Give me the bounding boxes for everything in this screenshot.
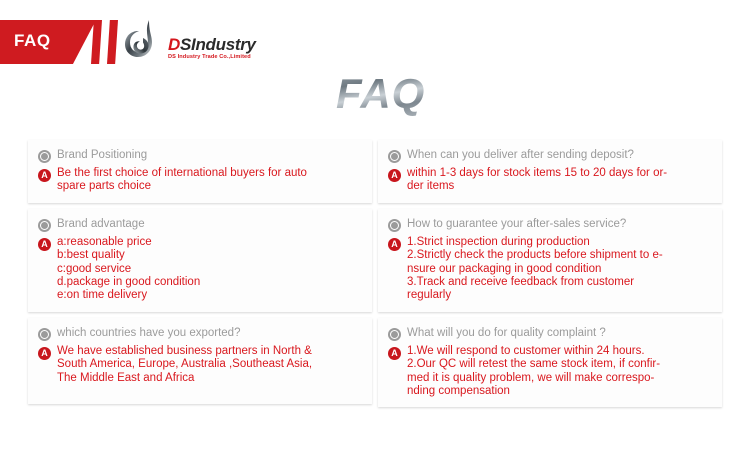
question-badge-icon bbox=[388, 219, 401, 232]
answer-badge-icon: A bbox=[388, 347, 401, 360]
logo-name-initial: D bbox=[168, 35, 180, 54]
faq-question-row: When can you deliver after sending depos… bbox=[388, 148, 712, 163]
faq-answer-row: ABe the first choice of international bu… bbox=[38, 167, 362, 194]
logo-name-rest: SIndustry bbox=[180, 35, 256, 54]
faq-grid: Brand PositioningABe the first choice of… bbox=[28, 140, 722, 407]
faq-answer-text: 1.Strict inspection during production 2.… bbox=[407, 236, 663, 303]
faq-question-row: What will you do for quality complaint ? bbox=[388, 326, 712, 341]
question-badge-icon bbox=[38, 219, 51, 232]
faq-answer-row: AWe have established business partners i… bbox=[38, 345, 362, 385]
faq-answer-row: A1.Strict inspection during production 2… bbox=[388, 236, 712, 303]
banner-label: FAQ bbox=[14, 31, 51, 51]
answer-badge-icon: A bbox=[38, 347, 51, 360]
faq-question-text: How to guarantee your after-sales servic… bbox=[407, 217, 626, 231]
faq-answer-row: Aa:reasonable price b:best quality c:goo… bbox=[38, 236, 362, 303]
faq-answer-text: within 1-3 days for stock items 15 to 20… bbox=[407, 167, 667, 194]
faq-card: How to guarantee your after-sales servic… bbox=[378, 209, 722, 312]
banner-stripe-2 bbox=[107, 20, 118, 64]
faq-question-text: Brand advantage bbox=[57, 217, 145, 231]
faq-card: Brand PositioningABe the first choice of… bbox=[28, 140, 372, 203]
logo-text: DSIndustry DS Industry Trade Co.,Limited bbox=[168, 36, 256, 60]
ds-swirl-logo-icon bbox=[119, 18, 167, 66]
faq-question-text: When can you deliver after sending depos… bbox=[407, 148, 634, 162]
question-badge-icon bbox=[38, 328, 51, 341]
faq-card: Brand advantageAa:reasonable price b:bes… bbox=[28, 209, 372, 312]
answer-badge-icon: A bbox=[388, 238, 401, 251]
faq-card: which countries have you exported?AWe ha… bbox=[28, 318, 372, 404]
faq-card: When can you deliver after sending depos… bbox=[378, 140, 722, 203]
faq-question-row: How to guarantee your after-sales servic… bbox=[388, 217, 712, 232]
page-header: FAQ DSIndu bbox=[0, 0, 750, 132]
question-badge-icon bbox=[38, 150, 51, 163]
question-badge-icon bbox=[388, 150, 401, 163]
question-badge-icon bbox=[388, 328, 401, 341]
faq-card: What will you do for quality complaint ?… bbox=[378, 318, 722, 408]
faq-question-text: Brand Positioning bbox=[57, 148, 147, 162]
faq-question-row: Brand advantage bbox=[38, 217, 362, 232]
faq-answer-text: Be the first choice of international buy… bbox=[57, 167, 307, 194]
faq-watermark-title: FAQ bbox=[336, 70, 425, 118]
faq-question-text: which countries have you exported? bbox=[57, 326, 240, 340]
faq-question-text: What will you do for quality complaint ? bbox=[407, 326, 606, 340]
banner-stripe-1 bbox=[91, 20, 102, 64]
faq-answer-row: Awithin 1-3 days for stock items 15 to 2… bbox=[388, 167, 712, 194]
faq-question-row: which countries have you exported? bbox=[38, 326, 362, 341]
answer-badge-icon: A bbox=[38, 238, 51, 251]
faq-answer-text: We have established business partners in… bbox=[57, 345, 312, 385]
answer-badge-icon: A bbox=[38, 169, 51, 182]
answer-badge-icon: A bbox=[388, 169, 401, 182]
logo-name: DSIndustry bbox=[168, 36, 256, 53]
faq-question-row: Brand Positioning bbox=[38, 148, 362, 163]
faq-answer-text: a:reasonable price b:best quality c:good… bbox=[57, 236, 200, 303]
faq-banner: FAQ bbox=[0, 20, 130, 64]
faq-answer-row: A1.We will respond to customer within 24… bbox=[388, 345, 712, 399]
faq-answer-text: 1.We will respond to customer within 24 … bbox=[407, 345, 660, 399]
logo-tagline: DS Industry Trade Co.,Limited bbox=[168, 54, 256, 60]
